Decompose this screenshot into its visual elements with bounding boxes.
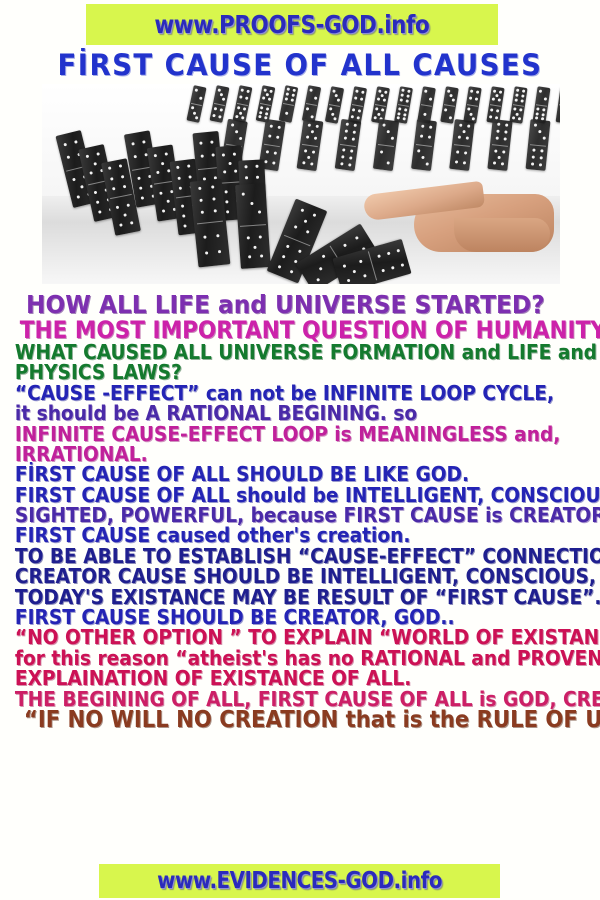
- domino-tile: [532, 86, 550, 123]
- domino-divider: [264, 143, 281, 147]
- domino-pip: [269, 125, 272, 128]
- domino-pip: [403, 113, 406, 116]
- domino-pip: [465, 136, 468, 139]
- domino-pip: [543, 97, 546, 100]
- domino-pip: [230, 123, 233, 126]
- domino-pip: [342, 148, 345, 151]
- domino-pip: [467, 108, 470, 111]
- domino-pip: [253, 245, 256, 248]
- domino-pip: [256, 175, 259, 178]
- domino-pip: [417, 149, 420, 152]
- body-line: WHAT CAUSED ALL UNIVERSE FORMATION and L…: [0, 342, 558, 362]
- domino-pip: [341, 155, 344, 158]
- bottom-url-banner: www.EVIDENCES-GOD.info: [99, 864, 500, 898]
- domino-pip: [246, 236, 249, 239]
- domino-pip: [187, 165, 190, 168]
- domino-divider: [513, 104, 524, 107]
- domino-pip: [246, 90, 250, 94]
- domino-pip: [469, 112, 472, 115]
- domino-pip: [213, 114, 217, 118]
- domino-pip: [130, 221, 134, 225]
- domino-pip: [400, 263, 404, 267]
- domino-pip: [142, 140, 145, 143]
- domino-pip: [497, 156, 500, 159]
- domino-tile: [235, 183, 271, 269]
- domino-pip: [238, 136, 241, 139]
- domino-pip: [353, 269, 357, 273]
- domino-pip: [542, 108, 545, 111]
- domino-tile: [556, 86, 560, 123]
- domino-pip: [407, 89, 410, 92]
- domino-pip: [512, 116, 515, 119]
- domino-pip: [211, 154, 214, 157]
- domino-pip: [489, 115, 492, 118]
- domino-pip: [216, 234, 219, 237]
- domino-pip: [332, 89, 335, 92]
- domino-pip: [405, 99, 408, 102]
- domino-pip: [285, 111, 289, 115]
- domino-pip: [265, 107, 269, 111]
- domino-pip: [298, 250, 302, 254]
- domino-tile: [302, 85, 321, 123]
- domino-pip: [94, 190, 98, 194]
- domino-pip: [241, 89, 245, 93]
- body-line: FIRST CAUSE caused other's creation.: [0, 525, 558, 545]
- domino-pip: [212, 198, 215, 201]
- domino-pip: [311, 151, 314, 154]
- domino-divider: [559, 104, 560, 107]
- domino-pip: [503, 137, 506, 140]
- domino-pip: [292, 88, 296, 92]
- domino-pip: [214, 107, 218, 111]
- domino-divider: [329, 104, 340, 107]
- domino-pip: [300, 209, 304, 213]
- domino-pip: [193, 111, 197, 115]
- domino-pip: [200, 199, 203, 202]
- domino-pip: [226, 210, 229, 213]
- domino-pip: [352, 130, 355, 133]
- domino-pip: [195, 116, 199, 120]
- domino-pip: [225, 190, 228, 193]
- domino-pip: [340, 162, 343, 165]
- domino-pip: [217, 88, 221, 92]
- domino-pip: [222, 153, 225, 156]
- domino-pip: [211, 186, 214, 189]
- domino-pip: [449, 94, 452, 97]
- body-text-block: HOW ALL LIFE and UNIVERSE STARTED?THE MO…: [0, 292, 600, 732]
- domino-tile: [335, 119, 362, 171]
- body-line: “CAUSE -EFFECT” can not be INFINITE LOOP…: [0, 383, 558, 403]
- page-title: FİRST CAUSE OF ALL CAUSES: [15, 48, 585, 82]
- domino-pip: [531, 155, 534, 158]
- domino-pip: [303, 149, 306, 152]
- domino-pip: [166, 200, 169, 203]
- domino-pip: [210, 140, 213, 143]
- domino-pip: [291, 93, 295, 97]
- domino-pip: [112, 187, 116, 191]
- domino-pip: [205, 251, 208, 254]
- domino-pip: [307, 156, 310, 159]
- domino-pip: [541, 113, 544, 116]
- body-line: TODAY'S EXISTANCE MAY BE RESULT OF “FIRS…: [0, 587, 558, 607]
- body-line: FIRST CAUSE SHOULD BE CREATOR, GOD..: [0, 607, 558, 627]
- domino-pip: [74, 140, 78, 144]
- domino-pip: [200, 141, 203, 144]
- domino-pip: [542, 136, 545, 139]
- domino-pip: [421, 156, 424, 159]
- domino-pip: [178, 176, 181, 179]
- domino-pip: [96, 152, 100, 156]
- domino-pip: [259, 111, 263, 115]
- domino-pip: [475, 91, 478, 94]
- domino-tile: [233, 85, 253, 123]
- domino-pip: [447, 89, 450, 92]
- domino-pip: [425, 162, 428, 165]
- domino-pip: [80, 185, 84, 189]
- domino-tile: [449, 119, 475, 171]
- domino-divider: [530, 144, 547, 147]
- domino-divider: [306, 103, 317, 106]
- domino-pip: [351, 115, 354, 118]
- hand-knuckles: [454, 218, 550, 252]
- domino-pip: [234, 170, 237, 173]
- domino-divider: [197, 221, 224, 225]
- domino-pip: [467, 125, 470, 128]
- domino-pip: [265, 112, 269, 116]
- domino-pip: [203, 236, 206, 239]
- domino-pip: [343, 264, 347, 268]
- domino-pip: [222, 97, 226, 101]
- domino-pip: [404, 108, 407, 111]
- domino-pip: [138, 176, 141, 179]
- domino-pip: [375, 108, 378, 111]
- domino-pip: [448, 116, 451, 119]
- domino-pip: [521, 94, 524, 97]
- domino-pip: [201, 211, 204, 214]
- domino-divider: [378, 143, 395, 146]
- domino-pip: [236, 115, 240, 119]
- domino-pip: [290, 98, 294, 102]
- domino-pip: [239, 111, 243, 115]
- body-line: TO BE ABLE TO ESTABLISH “CAUSE-EFFECT” C…: [0, 546, 558, 566]
- domino-pip: [382, 98, 385, 101]
- domino-pip: [402, 117, 405, 120]
- domino-pip: [260, 106, 264, 110]
- domino-pip: [469, 97, 472, 100]
- domino-divider: [454, 144, 471, 147]
- domino-pip: [191, 106, 195, 110]
- domino-pip: [179, 186, 182, 189]
- domino-pip: [539, 156, 542, 159]
- domino-pip: [277, 126, 280, 129]
- domino-pip: [272, 161, 275, 164]
- domino-pip: [540, 149, 543, 152]
- domino-divider: [302, 143, 319, 146]
- domino-pip: [260, 255, 263, 258]
- domino-pip: [374, 116, 377, 119]
- domino-pip: [397, 117, 400, 120]
- domino-pip: [391, 266, 395, 270]
- domino-pip: [223, 170, 226, 173]
- domino-pip: [255, 165, 258, 168]
- domino-pip: [363, 274, 367, 278]
- domino-tile: [411, 119, 437, 171]
- domino-pip: [119, 223, 123, 227]
- domino-pip: [220, 93, 224, 97]
- domino-pip: [118, 165, 122, 169]
- domino-pip: [384, 90, 387, 93]
- domino-tile: [526, 119, 551, 171]
- domino-pip: [356, 116, 359, 119]
- domino-divider: [110, 194, 132, 199]
- domino-pip: [424, 90, 427, 93]
- domino-pip: [381, 268, 385, 272]
- body-line: HOW ALL LIFE and UNIVERSE STARTED?: [0, 292, 558, 318]
- domino-pip: [354, 96, 357, 99]
- hand-pushing-icon: [364, 180, 554, 254]
- domino-pip: [285, 97, 289, 101]
- domino-pip: [347, 278, 351, 282]
- domino-pip: [232, 153, 235, 156]
- domino-pip: [310, 162, 313, 165]
- domino-pip: [176, 166, 179, 169]
- domino-pip: [198, 187, 201, 190]
- domino-pip: [457, 135, 460, 138]
- domino-tile: [186, 85, 206, 123]
- domino-pip: [262, 96, 266, 100]
- domino-divider: [240, 224, 265, 227]
- domino-divider: [444, 104, 455, 107]
- domino-pip: [504, 130, 507, 133]
- domino-pip: [361, 91, 364, 94]
- domino-pip: [266, 93, 270, 97]
- domino-pip: [343, 136, 346, 139]
- domino-divider: [237, 103, 248, 106]
- domino-pip: [350, 149, 353, 152]
- domino-pip: [302, 161, 305, 164]
- domino-pip: [276, 135, 279, 138]
- domino-pip: [355, 236, 359, 240]
- body-line: FIRST CAUSE OF ALL should be INTELLIGENT…: [0, 485, 558, 505]
- domino-pip: [444, 108, 447, 111]
- domino-pip: [245, 96, 249, 100]
- domino-pip: [245, 166, 248, 169]
- domino-pip: [495, 94, 498, 97]
- body-line: for this reason “atheist's has no RATION…: [0, 648, 558, 668]
- domino-pip: [331, 112, 334, 115]
- body-line: PHYSICS LAWS?: [0, 362, 558, 382]
- domino-pip: [162, 209, 165, 212]
- domino-tile: [279, 85, 299, 123]
- domino-pip: [199, 96, 203, 100]
- domino-pip: [519, 108, 522, 111]
- domino-pip: [90, 171, 94, 175]
- domino-pip: [313, 214, 317, 218]
- top-url-text: www.PROOFS-GOD.info: [155, 10, 430, 39]
- domino-pip: [156, 171, 159, 174]
- domino-tile: [256, 85, 276, 123]
- domino-pip: [349, 156, 352, 159]
- domino-pip: [218, 115, 222, 119]
- domino-pip: [73, 178, 77, 182]
- domino-tile: [348, 86, 367, 124]
- body-line: FİRST CAUSE OF ALL SHOULD BE LIKE GOD.: [0, 464, 558, 484]
- domino-pip: [401, 93, 404, 96]
- domino-pip: [492, 97, 495, 100]
- domino-pip: [386, 161, 389, 164]
- domino-pip: [316, 278, 320, 282]
- domino-pip: [120, 175, 124, 179]
- domino-pip: [329, 107, 332, 110]
- domino-pip: [539, 90, 542, 93]
- domino-pip: [139, 186, 142, 189]
- domino-pip: [429, 126, 432, 129]
- domino-pip: [258, 211, 261, 214]
- domino-pip: [470, 90, 473, 93]
- domino-pip: [516, 88, 519, 91]
- domino-pip: [116, 206, 120, 210]
- domino-pip: [505, 123, 508, 126]
- domino-photo: [42, 84, 560, 284]
- domino-tile: [463, 86, 481, 124]
- poster-page: www.PROOFS-GOD.info FİRST CAUSE OF ALL C…: [0, 0, 600, 900]
- domino-pip: [93, 162, 97, 166]
- domino-pip: [348, 163, 351, 166]
- domino-divider: [260, 103, 271, 106]
- domino-tile: [417, 86, 436, 124]
- domino-pip: [184, 224, 187, 227]
- domino-pip: [344, 129, 347, 132]
- domino-pip: [490, 109, 493, 112]
- domino-pip: [498, 90, 501, 93]
- domino-pip: [462, 161, 465, 164]
- domino-pip: [377, 112, 380, 115]
- domino-tile: [325, 86, 344, 124]
- domino-pip: [265, 150, 268, 153]
- domino-pip: [496, 129, 499, 132]
- domino-pip: [322, 254, 326, 258]
- domino-pip: [241, 116, 245, 120]
- domino-divider: [283, 103, 294, 106]
- domino-divider: [421, 104, 432, 107]
- domino-pip: [313, 96, 317, 100]
- domino-divider: [416, 143, 433, 146]
- domino-tile: [394, 86, 413, 124]
- domino-pip: [400, 98, 403, 101]
- domino-pip: [455, 151, 458, 154]
- domino-pip: [234, 130, 237, 133]
- domino-pip: [258, 235, 261, 238]
- domino-pip: [315, 125, 318, 128]
- domino-pip: [497, 123, 500, 126]
- domino-pip: [334, 117, 337, 120]
- domino-pip: [493, 89, 496, 92]
- domino-pip: [285, 245, 289, 249]
- domino-pip: [337, 98, 340, 101]
- domino-pip: [64, 142, 68, 146]
- domino-pip: [390, 136, 393, 139]
- domino-pip: [379, 89, 382, 92]
- domino-divider: [375, 104, 386, 107]
- domino-pip: [522, 89, 525, 92]
- domino-pip: [134, 155, 137, 158]
- domino-pip: [402, 88, 405, 91]
- domino-pip: [267, 97, 271, 101]
- domino-tile: [209, 85, 229, 123]
- domino-pip: [67, 156, 71, 160]
- domino-pip: [248, 255, 251, 258]
- domino-pip: [359, 97, 362, 100]
- domino-pip: [310, 115, 314, 119]
- domino-pip: [472, 117, 475, 120]
- domino-tile: [297, 119, 324, 171]
- domino-pip: [110, 177, 114, 181]
- domino-divider: [536, 104, 547, 107]
- domino-pip: [293, 225, 297, 229]
- domino-pip: [502, 150, 505, 153]
- domino-pip: [353, 124, 356, 127]
- domino-pip: [427, 135, 430, 138]
- domino-pip: [126, 204, 130, 208]
- domino-pip: [239, 95, 243, 99]
- domino-divider: [191, 102, 202, 105]
- body-line: EXPLAINATION OF EXISTANCE OF ALL.: [0, 668, 558, 688]
- domino-pip: [500, 162, 503, 165]
- body-line: SIGHTED, POWERFUL, because FIRST CAUSE i…: [0, 505, 558, 525]
- domino-pip: [345, 123, 348, 126]
- domino-pip: [228, 161, 231, 164]
- domino-pip: [380, 108, 383, 111]
- domino-pip: [533, 124, 536, 127]
- domino-tile: [486, 86, 504, 124]
- domino-pip: [269, 89, 273, 93]
- body-line: IRRATIONAL.: [0, 444, 558, 464]
- domino-pip: [520, 99, 523, 102]
- domino-pip: [268, 134, 271, 137]
- top-url-banner: www.PROOFS-GOD.info: [86, 4, 498, 45]
- domino-divider: [352, 104, 363, 107]
- domino-divider: [214, 103, 225, 106]
- domino-pip: [423, 112, 426, 115]
- domino-pip: [306, 107, 310, 111]
- domino-pip: [343, 243, 347, 247]
- domino-pip: [515, 98, 518, 101]
- domino-pip: [290, 270, 294, 274]
- domino-pip: [428, 97, 431, 100]
- domino-pip: [536, 112, 539, 115]
- domino-pip: [182, 214, 185, 217]
- body-line: “NO OTHER OPTION ” TO EXPLAIN “WORLD OF …: [0, 627, 558, 647]
- domino-tile: [373, 119, 399, 171]
- domino-pip: [218, 250, 221, 253]
- domino-pip: [96, 200, 100, 204]
- domino-pip: [356, 90, 359, 93]
- domino-pip: [515, 112, 518, 115]
- domino-pip: [201, 155, 204, 158]
- domino-pip: [386, 130, 389, 133]
- domino-pip: [286, 92, 290, 96]
- domino-pip: [538, 130, 541, 133]
- domino-divider: [368, 251, 377, 280]
- domino-pip: [123, 213, 127, 217]
- domino-pip: [513, 108, 516, 111]
- body-line: THE MOST IMPORTANT QUESTION OF HUMANITY.: [0, 318, 540, 342]
- domino-pip: [497, 98, 500, 101]
- domino-pip: [421, 125, 424, 128]
- domino-divider: [492, 144, 509, 147]
- body-line: THE BEGINING OF ALL, FIRST CAUSE OF ALL …: [0, 689, 558, 709]
- domino-pip: [108, 167, 112, 171]
